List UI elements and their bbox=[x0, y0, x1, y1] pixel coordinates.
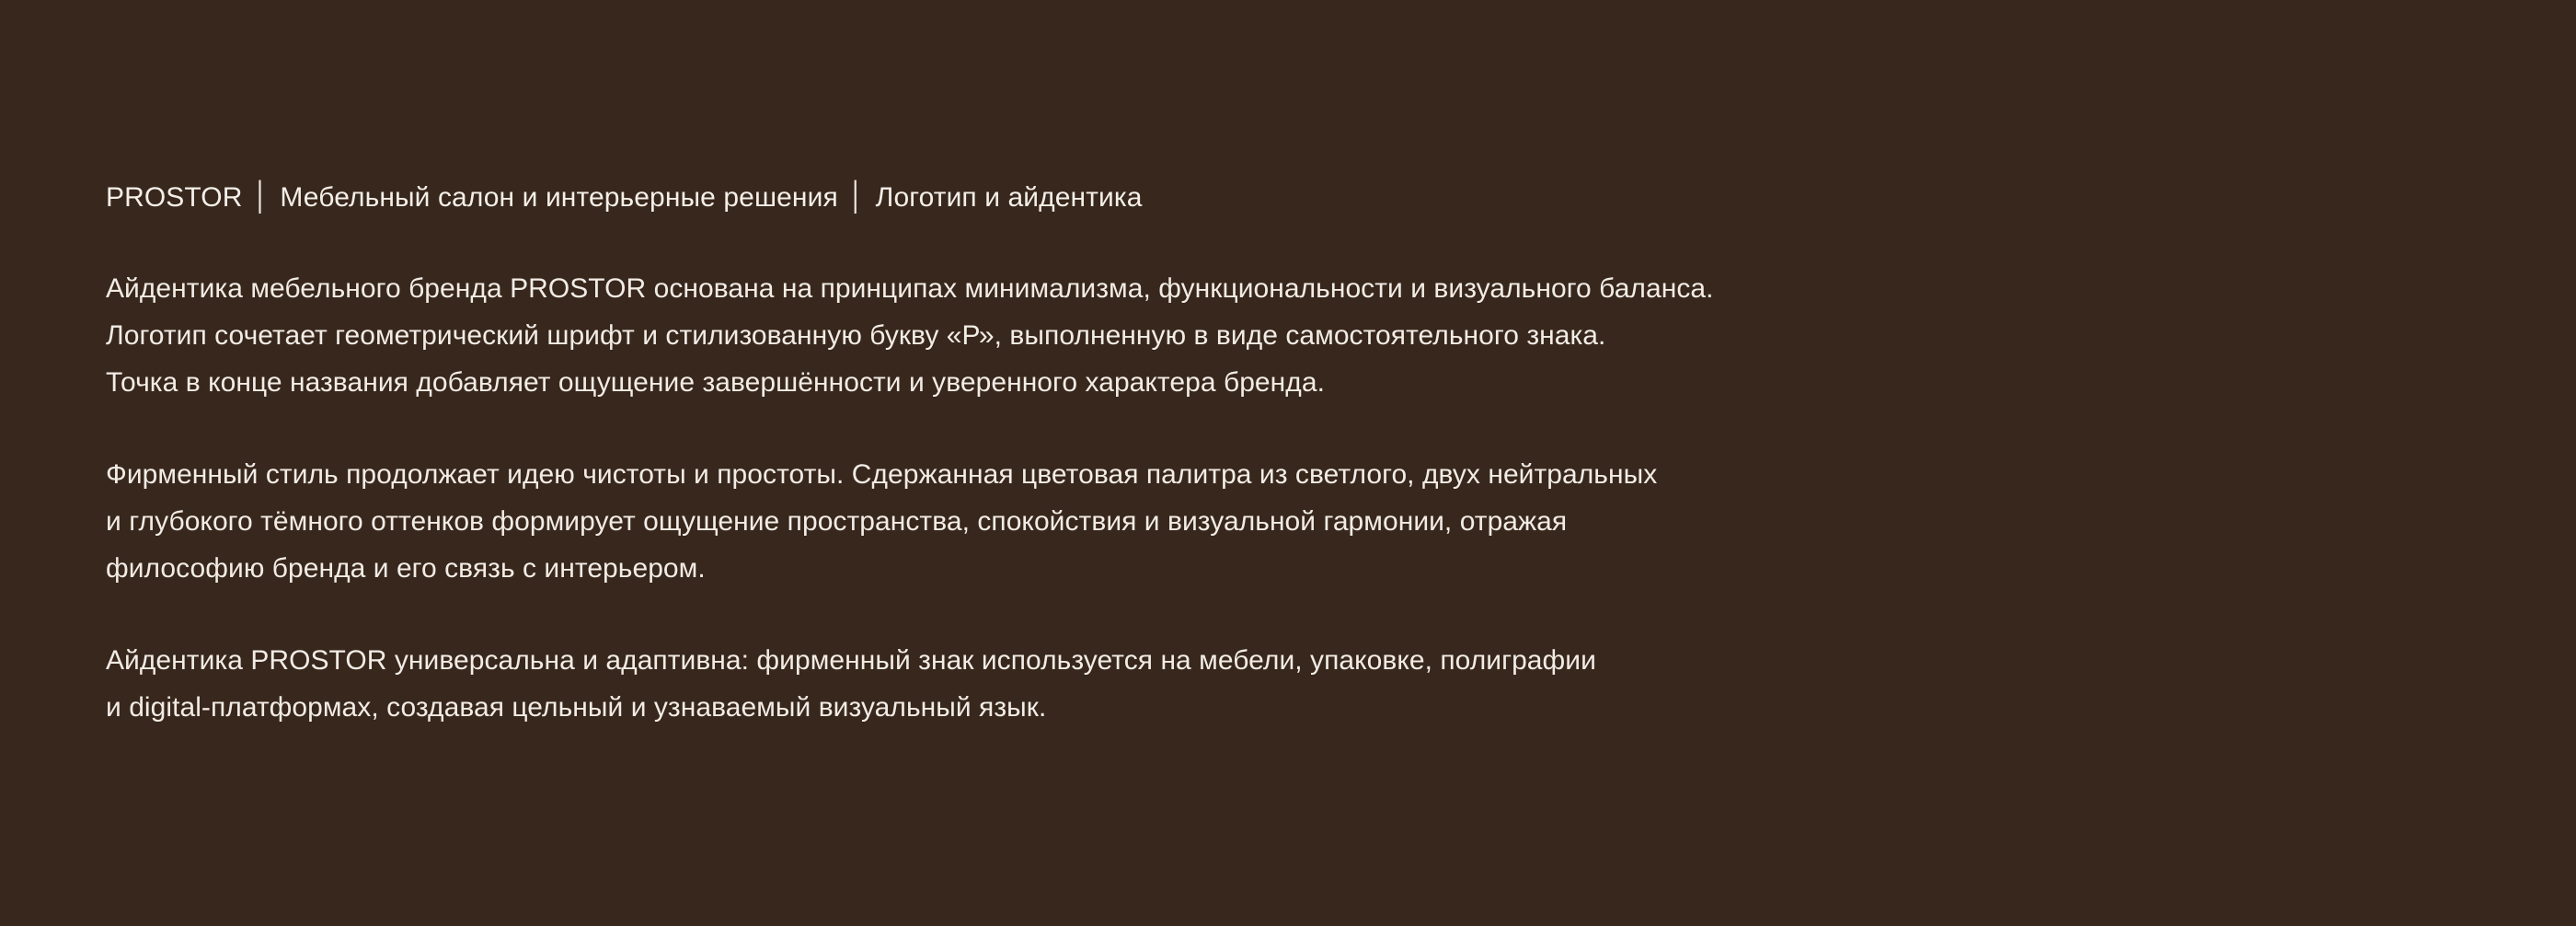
paragraph-identity-principles: Айдентика мебельного бренда PROSTOR осно… bbox=[106, 265, 2535, 406]
title-category: Логотип и айдентика bbox=[876, 179, 1143, 216]
body-copy: Айдентика мебельного бренда PROSTOR осно… bbox=[106, 265, 2535, 731]
title-line: PROSTOR │ Мебельный салон и интерьерные … bbox=[106, 179, 1143, 216]
paragraph-line: Айдентика PROSTOR универсальна и адаптив… bbox=[106, 637, 2535, 684]
paragraph-adaptivity: Айдентика PROSTOR универсальна и адаптив… bbox=[106, 637, 2535, 731]
page-root: PROSTOR │ Мебельный салон и интерьерные … bbox=[0, 0, 2576, 926]
paragraph-line: Точка в конце названия добавляет ощущени… bbox=[106, 359, 2535, 406]
paragraph-line: Фирменный стиль продолжает идею чистоты … bbox=[106, 451, 2535, 498]
paragraph-line: Логотип сочетает геометрический шрифт и … bbox=[106, 312, 2535, 359]
paragraph-line: и digital-платформах, создавая цельный и… bbox=[106, 684, 2535, 731]
paragraph-line: философию бренда и его связь с интерьеро… bbox=[106, 545, 2535, 592]
paragraph-brand-style: Фирменный стиль продолжает идею чистоты … bbox=[106, 451, 2535, 592]
paragraph-line: и глубокого тёмного оттенков формирует о… bbox=[106, 498, 2535, 545]
title-separator-1: │ bbox=[243, 179, 281, 215]
title-subject: Мебельный салон и интерьерные решения bbox=[280, 179, 837, 216]
title-brand: PROSTOR bbox=[106, 179, 243, 216]
paragraph-line: Айдентика мебельного бренда PROSTOR осно… bbox=[106, 265, 2535, 312]
page-title: PROSTOR │ Мебельный салон и интерьерные … bbox=[106, 179, 1143, 216]
title-separator-2: │ bbox=[838, 179, 876, 215]
